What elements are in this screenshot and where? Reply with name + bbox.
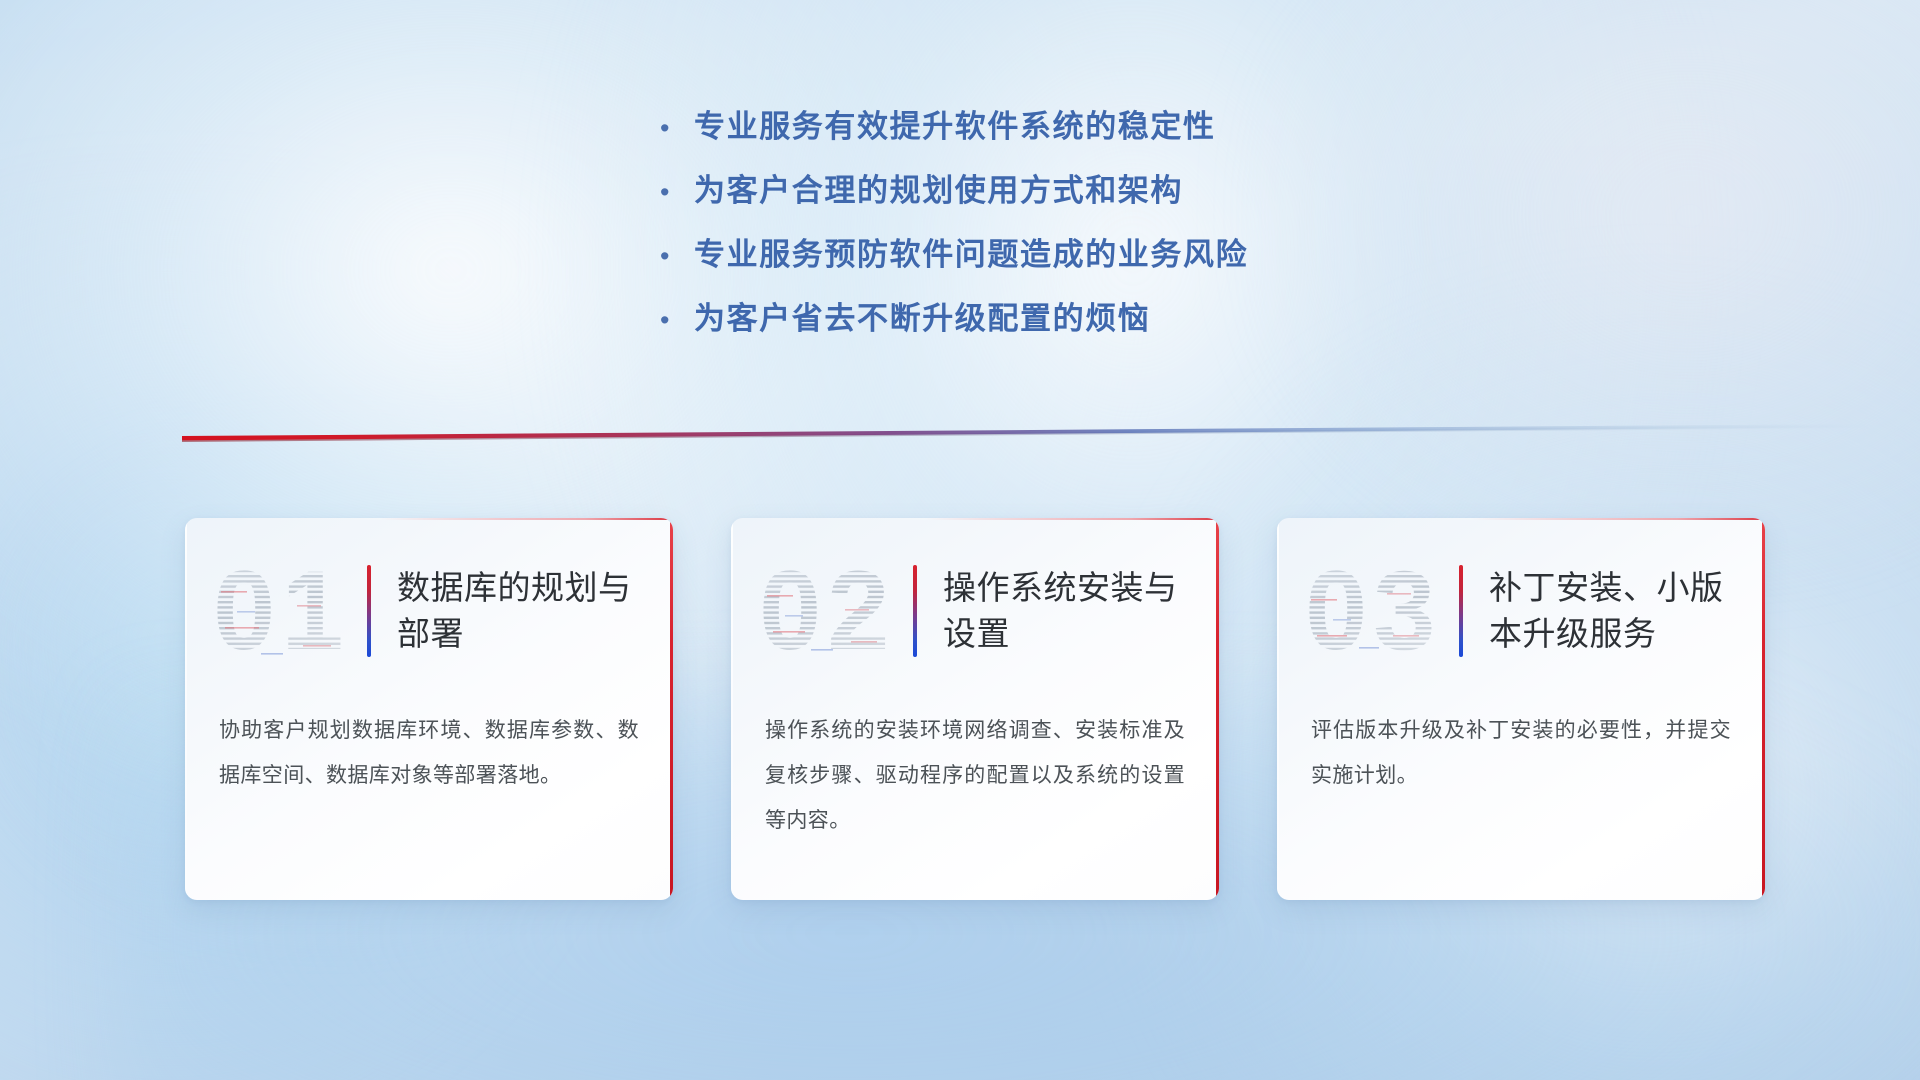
list-item-label: 专业服务预防软件问题造成的业务风险 — [694, 236, 1248, 274]
bullet-dot-icon: • — [660, 172, 694, 211]
section-divider — [182, 424, 1872, 442]
list-item: • 专业服务有效提升软件系统的稳定性 — [660, 108, 1560, 172]
card-number-badge: 01 — [211, 549, 363, 677]
list-item: • 为客户省去不断升级配置的烦恼 — [660, 300, 1560, 364]
card-description: 操作系统的安装环境网络调查、安装标准及复核步骤、驱动程序的配置以及系统的设置等内… — [731, 678, 1219, 843]
svg-text:02: 02 — [759, 549, 896, 673]
list-item: • 专业服务预防软件问题造成的业务风险 — [660, 236, 1560, 300]
bullet-dot-icon: • — [660, 108, 694, 147]
list-item-label: 专业服务有效提升软件系统的稳定性 — [694, 108, 1216, 146]
bullet-dot-icon: • — [660, 300, 694, 339]
card-title: 操作系统安装与设置 — [943, 565, 1189, 657]
list-item-label: 为客户合理的规划使用方式和架构 — [694, 172, 1183, 210]
svg-text:03: 03 — [1305, 549, 1442, 673]
striped-number-02-icon: 02 — [757, 549, 909, 677]
list-item-label: 为客户省去不断升级配置的烦恼 — [694, 300, 1150, 338]
card-header: 03 补丁安装、小版本升级服务 — [1277, 518, 1765, 678]
service-cards: 01 数据库的规划与部署 协助客户规划数据库环境、数据库参数、数据库空间、数据库… — [185, 518, 1765, 900]
list-item: • 为客户合理的规划使用方式和架构 — [660, 172, 1560, 236]
striped-number-01-icon: 01 — [211, 549, 363, 677]
card-title: 数据库的规划与部署 — [397, 565, 643, 657]
card-title-accent-bar — [367, 565, 371, 657]
card-title-accent-bar — [1459, 565, 1463, 657]
card-description: 协助客户规划数据库环境、数据库参数、数据库空间、数据库对象等部署落地。 — [185, 678, 673, 798]
card-title: 补丁安装、小版本升级服务 — [1489, 565, 1735, 657]
card-number-badge: 03 — [1303, 549, 1455, 677]
card-title-accent-bar — [913, 565, 917, 657]
card-description: 评估版本升级及补丁安装的必要性，并提交实施计划。 — [1277, 678, 1765, 798]
card-number-badge: 02 — [757, 549, 909, 677]
bullet-dot-icon: • — [660, 236, 694, 275]
service-card[interactable]: 01 数据库的规划与部署 协助客户规划数据库环境、数据库参数、数据库空间、数据库… — [185, 518, 673, 900]
card-header: 02 操作系统安装与设置 — [731, 518, 1219, 678]
service-card[interactable]: 02 操作系统安装与设置 操作系统的安装环境网络调查、安装标准及复核步骤、驱动程… — [731, 518, 1219, 900]
service-card[interactable]: 03 补丁安装、小版本升级服务 评估版本升级及补丁安装的必要性，并提交实施计划。 — [1277, 518, 1765, 900]
key-benefits-list: • 专业服务有效提升软件系统的稳定性 • 为客户合理的规划使用方式和架构 • 专… — [660, 108, 1560, 364]
striped-number-03-icon: 03 — [1303, 549, 1455, 677]
card-header: 01 数据库的规划与部署 — [185, 518, 673, 678]
section-divider-shape — [182, 424, 1872, 442]
